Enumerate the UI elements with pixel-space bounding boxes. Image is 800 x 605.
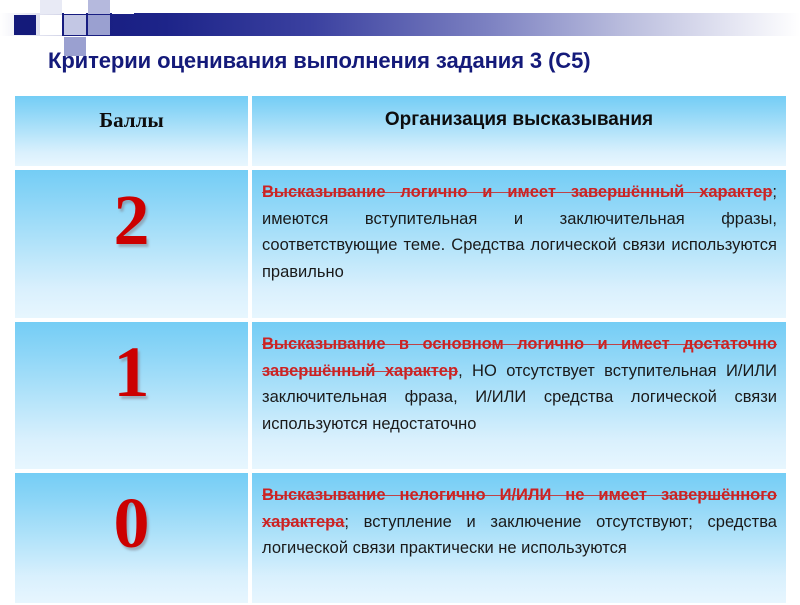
description-highlight: Высказывание логично и имеет завершённый… <box>262 183 772 201</box>
score-cell-1-bg: 1 <box>15 322 248 469</box>
score-value: 2 <box>15 170 248 256</box>
score-cell-0-bg: 0 <box>15 473 248 603</box>
table-row: 2 Высказывание логично и имеет завершённ… <box>13 168 788 320</box>
description-cell-2-bg: Высказывание логично и имеет завершённый… <box>252 170 786 318</box>
criteria-table: Баллы Организация высказывания 2 <box>13 94 788 605</box>
score-cell-2: 2 <box>13 168 250 320</box>
table-row: 1 Высказывание в основном логично и имее… <box>13 320 788 471</box>
header-cell-score: Баллы <box>13 94 250 168</box>
table-row: 0 Высказывание нелогично И/ИЛИ не имеет … <box>13 471 788 605</box>
header-label-description: Организация высказывания <box>252 96 786 131</box>
score-value: 0 <box>15 473 248 559</box>
table-header-row: Баллы Организация высказывания <box>13 94 788 168</box>
score-cell-0: 0 <box>13 471 250 605</box>
score-cell-2-bg: 2 <box>15 170 248 318</box>
description-cell-0: Высказывание нелогично И/ИЛИ не имеет за… <box>250 471 788 605</box>
deco-square-9 <box>88 15 110 35</box>
description-text: Высказывание нелогично И/ИЛИ не имеет за… <box>252 473 786 571</box>
description-cell-1: Высказывание в основном логично и имеет … <box>250 320 788 471</box>
deco-square-8 <box>88 0 110 14</box>
criteria-table-wrapper: Баллы Организация высказывания 2 <box>13 94 788 591</box>
header-cell-score-bg: Баллы <box>15 96 248 166</box>
deco-square-5 <box>64 0 86 14</box>
description-cell-2: Высказывание логично и имеет завершённый… <box>250 168 788 320</box>
slide: Критерии оценивания выполнения задания 3… <box>0 0 800 600</box>
page-title: Критерии оценивания выполнения задания 3… <box>48 48 590 74</box>
score-cell-1: 1 <box>13 320 250 471</box>
deco-square-10 <box>112 0 134 14</box>
description-text: Высказывание в основном логично и имеет … <box>252 322 786 447</box>
description-cell-0-bg: Высказывание нелогично И/ИЛИ не имеет за… <box>252 473 786 603</box>
description-text: Высказывание логично и имеет завершённый… <box>252 170 786 295</box>
deco-square-4 <box>40 37 62 45</box>
deco-square-2 <box>40 0 62 14</box>
header-cell-description: Организация высказывания <box>250 94 788 168</box>
deco-square-3 <box>40 15 62 35</box>
description-cell-1-bg: Высказывание в основном логично и имеет … <box>252 322 786 469</box>
score-value: 1 <box>15 322 248 408</box>
gradient-bar <box>62 13 800 36</box>
header-cell-description-bg: Организация высказывания <box>252 96 786 166</box>
header-label-score: Баллы <box>15 96 248 133</box>
deco-square-6 <box>64 15 86 35</box>
deco-square-1 <box>14 15 36 35</box>
